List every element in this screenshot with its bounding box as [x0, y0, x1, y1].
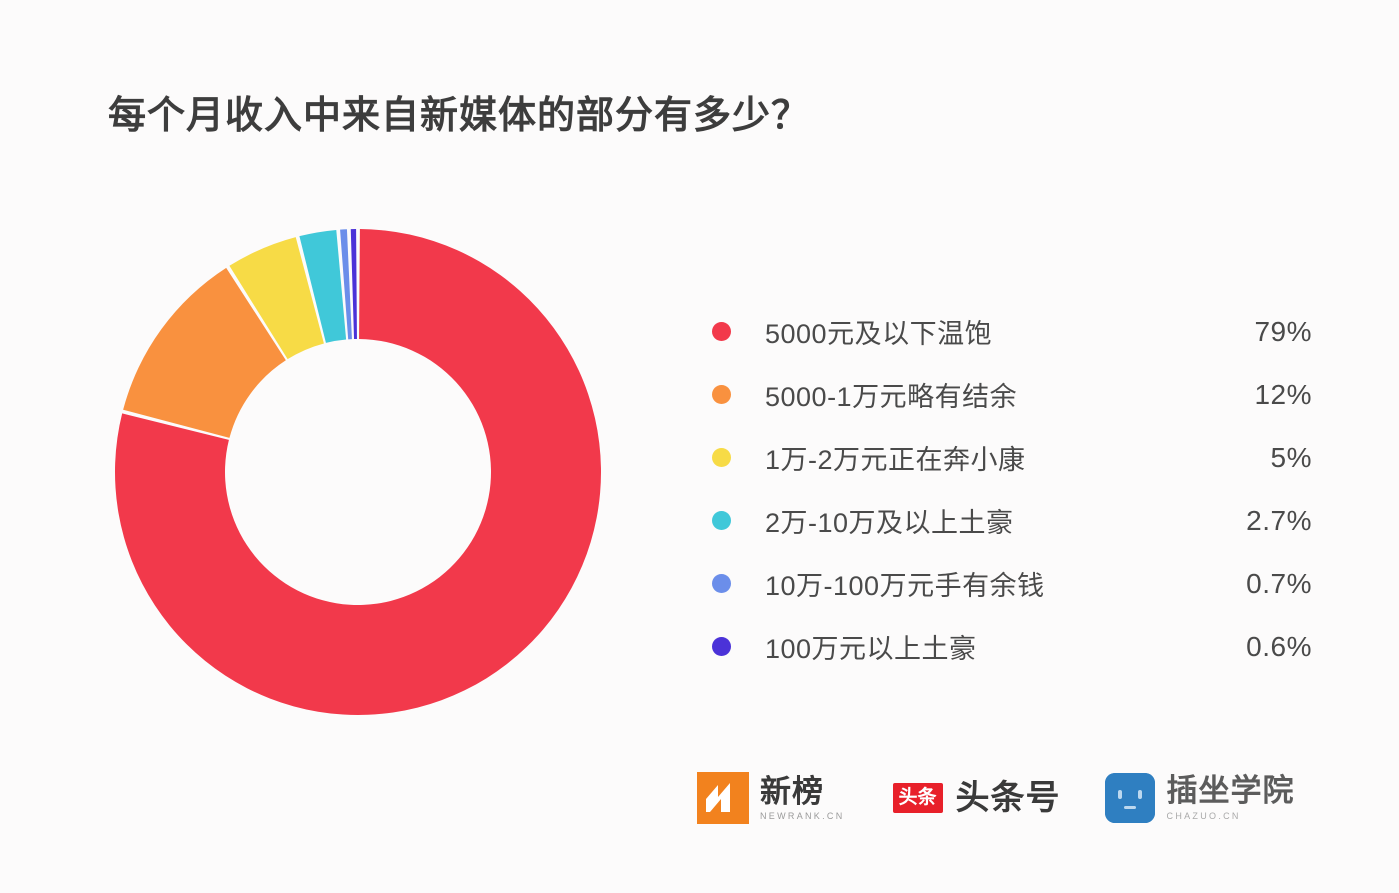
legend-row[interactable]: 1万-2万元正在奔小康5% [712, 426, 1312, 489]
legend-color-swatch-icon [712, 637, 731, 656]
legend-label: 2万-10万及以上土豪 [765, 501, 1204, 540]
legend-row[interactable]: 5000元及以下温饱79% [712, 300, 1312, 363]
legend-row[interactable]: 5000-1万元略有结余12% [712, 363, 1312, 426]
donut-slice[interactable] [351, 229, 357, 339]
newrank-name-cn: 新榜 [760, 776, 845, 807]
legend-color-swatch-icon [712, 511, 731, 530]
chazuo-text: 插坐学院 CHAZUO.CN [1167, 775, 1295, 821]
legend-color-swatch-icon [712, 574, 731, 593]
legend-value: 12% [1204, 379, 1312, 411]
legend-color-swatch-icon [712, 385, 731, 404]
legend-row[interactable]: 10万-100万元手有余钱0.7% [712, 552, 1312, 615]
chart-legend: 5000元及以下温饱79%5000-1万元略有结余12%1万-2万元正在奔小康5… [712, 300, 1312, 678]
legend-color-swatch-icon [712, 448, 731, 467]
page-title: 每个月收入中来自新媒体的部分有多少？ [108, 84, 810, 139]
legend-label: 1万-2万元正在奔小康 [765, 438, 1204, 477]
newrank-name-en: NEWRANK.CN [760, 812, 845, 821]
legend-label: 5000元及以下温饱 [765, 312, 1204, 351]
logo-chazuo[interactable]: 插坐学院 CHAZUO.CN [1105, 773, 1295, 823]
chart-page: 每个月收入中来自新媒体的部分有多少？ 5000元及以下温饱79%5000-1万元… [0, 0, 1399, 893]
donut-chart-svg [108, 222, 608, 722]
chazuo-name-cn: 插坐学院 [1167, 775, 1295, 806]
toutiaohao-name-cn: 头条号 [956, 781, 1061, 815]
legend-value: 0.7% [1204, 568, 1312, 600]
legend-value: 79% [1204, 316, 1312, 348]
toutiao-badge-icon: 头条 [893, 783, 943, 813]
donut-slice-group [115, 229, 601, 715]
footer-logo-bar: 新榜 NEWRANK.CN 头条 头条号 插坐学院 CHAZUO.CN [697, 772, 1295, 824]
legend-value: 0.6% [1204, 631, 1312, 663]
logo-toutiaohao[interactable]: 头条 头条号 [893, 781, 1061, 815]
legend-label: 100万元以上土豪 [765, 627, 1204, 666]
legend-row[interactable]: 2万-10万及以上土豪2.7% [712, 489, 1312, 552]
legend-label: 10万-100万元手有余钱 [765, 564, 1204, 603]
chazuo-mark-icon [1105, 773, 1155, 823]
chazuo-name-en: CHAZUO.CN [1167, 812, 1295, 821]
legend-value: 5% [1204, 442, 1312, 474]
legend-color-swatch-icon [712, 322, 731, 341]
newrank-mark-icon [697, 772, 749, 824]
legend-label: 5000-1万元略有结余 [765, 375, 1204, 414]
legend-row[interactable]: 100万元以上土豪0.6% [712, 615, 1312, 678]
logo-newrank[interactable]: 新榜 NEWRANK.CN [697, 772, 845, 824]
newrank-text: 新榜 NEWRANK.CN [760, 776, 845, 821]
donut-chart [108, 222, 608, 722]
legend-value: 2.7% [1204, 505, 1312, 537]
